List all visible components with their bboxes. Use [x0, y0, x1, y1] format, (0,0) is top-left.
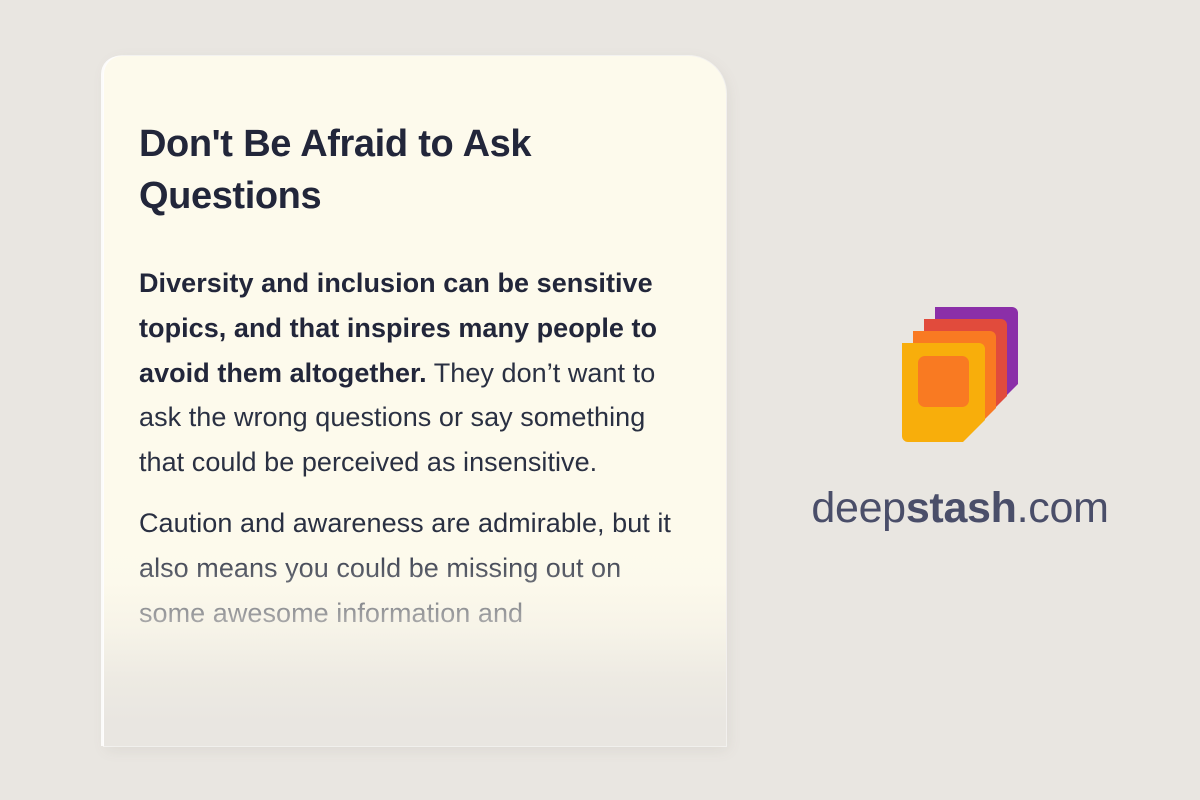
wordmark-dotcom: .com [1017, 484, 1109, 532]
deepstash-logo-icon [888, 300, 1033, 450]
card-paragraph-2: Caution and awareness are admirable, but… [139, 501, 682, 635]
card-paragraph-2-rest: Caution and awareness are admirable, but… [139, 508, 671, 628]
screenshot-stage: Don't Be Afraid to Ask Questions Diversi… [0, 0, 1200, 800]
idea-card[interactable]: Don't Be Afraid to Ask Questions Diversi… [104, 56, 726, 746]
brand-block: deepstash.com [760, 300, 1160, 533]
brand-wordmark[interactable]: deepstash.com [811, 484, 1108, 533]
wordmark-deep: deep [811, 484, 905, 532]
idea-card-content: Don't Be Afraid to Ask Questions Diversi… [104, 56, 726, 635]
page-title: Don't Be Afraid to Ask Questions [139, 118, 682, 223]
card-paragraph-1: Diversity and inclusion can be sensitive… [139, 261, 682, 485]
wordmark-stash: stash [906, 484, 1017, 532]
